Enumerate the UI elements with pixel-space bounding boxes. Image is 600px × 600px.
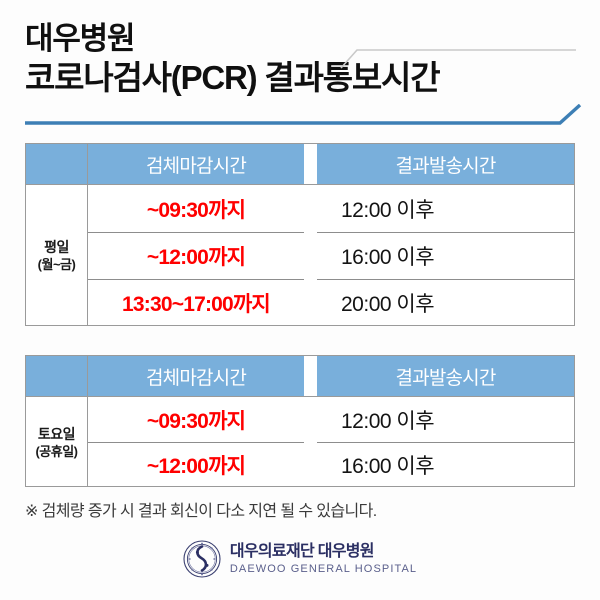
- header-cell-deadline: 검체마감시간: [88, 356, 304, 396]
- table-header-row: 검체마감시간 결과발송시간: [26, 144, 574, 184]
- cell-deadline: ~09:30까지: [88, 185, 304, 232]
- logo-text-wrap: 대우의료재단 대우병원 DAEWOO GENERAL HOSPITAL: [230, 542, 417, 577]
- cell-column-gap: [304, 442, 317, 487]
- table-row: ~12:00까지 16:00 이후: [88, 232, 574, 279]
- page-title-line-2: 코로나검사(PCR) 결과통보시간: [25, 60, 439, 96]
- table-row: ~09:30까지 12:00 이후: [88, 185, 574, 232]
- table-body: 토요일 (공휴일) ~09:30까지 12:00 이후 ~12:00까지 16:…: [26, 396, 574, 487]
- header-column-gap: [304, 356, 317, 396]
- table-rows-area: ~09:30까지 12:00 이후 ~12:00까지 16:00 이후 13:3…: [88, 185, 574, 326]
- cell-column-gap: [304, 397, 317, 442]
- table-body: 평일 (월~금) ~09:30까지 12:00 이후 ~12:00까지 16:0…: [26, 184, 574, 326]
- title-block: 대우병원 코로나검사(PCR) 결과통보시간: [0, 0, 600, 128]
- cell-send: 20:00 이후: [317, 279, 574, 326]
- header-cell-row-label: [26, 144, 88, 184]
- cell-deadline: ~12:00까지: [88, 232, 304, 279]
- cell-send: 16:00 이후: [317, 232, 574, 279]
- table-row: ~12:00까지 16:00 이후: [88, 442, 574, 487]
- hospital-seal-icon: [183, 540, 221, 578]
- header-column-gap: [304, 144, 317, 184]
- cell-send: 12:00 이후: [317, 185, 574, 232]
- row-group-label-sub: (월~금): [38, 256, 76, 273]
- header-cell-send: 결과발송시간: [317, 144, 574, 184]
- row-group-label-main: 평일: [44, 238, 69, 256]
- page-title-line-1: 대우병원: [25, 22, 134, 56]
- header-cell-deadline: 검체마감시간: [88, 144, 304, 184]
- cell-send: 12:00 이후: [317, 397, 574, 442]
- cell-column-gap: [304, 185, 317, 232]
- table-header-row: 검체마감시간 결과발송시간: [26, 356, 574, 396]
- logo-name-korean: 대우의료재단 대우병원: [230, 542, 417, 562]
- cell-deadline: ~12:00까지: [88, 442, 304, 487]
- footnote-text: ※ 검체량 증가 시 결과 회신이 다소 지연 될 수 있습니다.: [25, 497, 377, 521]
- row-group-label-main: 토요일: [38, 425, 75, 443]
- logo-name-english: DAEWOO GENERAL HOSPITAL: [230, 562, 417, 577]
- decorative-blue-rule-icon: [20, 104, 590, 128]
- cell-column-gap: [304, 232, 317, 279]
- cell-send: 16:00 이후: [317, 442, 574, 487]
- header-cell-send: 결과발송시간: [317, 356, 574, 396]
- table-row: 13:30~17:00까지 20:00 이후: [88, 279, 574, 326]
- table-rows-area: ~09:30까지 12:00 이후 ~12:00까지 16:00 이후: [88, 397, 574, 487]
- cell-column-gap: [304, 279, 317, 326]
- cell-deadline: 13:30~17:00까지: [88, 279, 304, 326]
- row-group-label-weekday: 평일 (월~금): [26, 185, 88, 326]
- cell-deadline: ~09:30까지: [88, 397, 304, 442]
- footer-logo: 대우의료재단 대우병원 DAEWOO GENERAL HOSPITAL: [0, 540, 600, 578]
- table-row: ~09:30까지 12:00 이후: [88, 397, 574, 442]
- header-cell-row-label: [26, 356, 88, 396]
- row-group-label-sub: (공휴일): [35, 443, 77, 460]
- row-group-label-saturday: 토요일 (공휴일): [26, 397, 88, 487]
- schedule-table-saturday: 검체마감시간 결과발송시간 토요일 (공휴일) ~09:30까지 12:00 이…: [25, 355, 575, 487]
- schedule-table-weekday: 검체마감시간 결과발송시간 평일 (월~금) ~09:30까지 12:00 이후…: [25, 143, 575, 326]
